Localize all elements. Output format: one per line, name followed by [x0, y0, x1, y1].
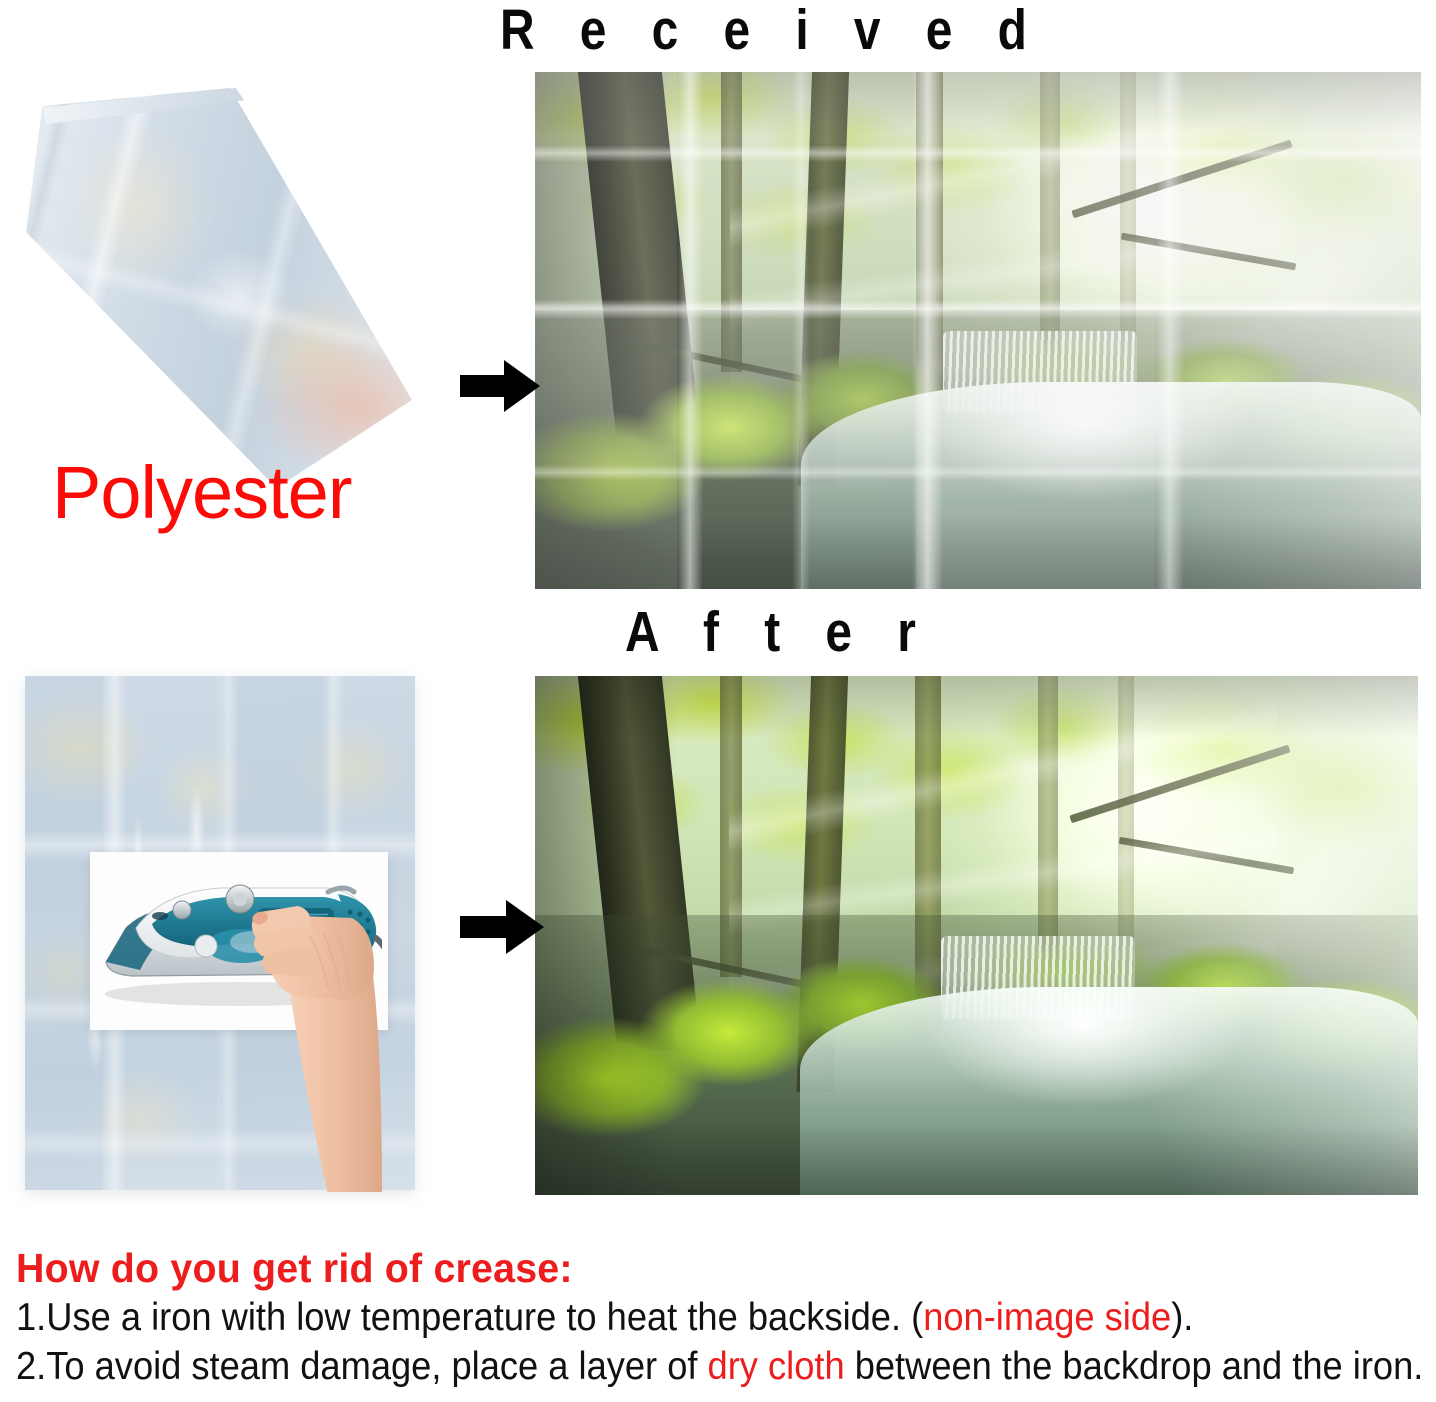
- instruction-line-1: 1.Use a iron with low temperature to hea…: [16, 1295, 1327, 1341]
- folded-fabric-photo: [18, 88, 422, 488]
- steam-iron-icon: [92, 866, 382, 1016]
- instruction-line-1-highlight: non-image side: [923, 1296, 1171, 1339]
- instruction-line-2-post: between the backdrop and the iron.: [845, 1345, 1424, 1388]
- instruction-line-2-highlight: dry cloth: [708, 1345, 845, 1388]
- instructions-block: How do you get rid of crease: 1.Use a ir…: [16, 1244, 1426, 1390]
- photo-received-creased: [535, 72, 1421, 589]
- right-arrow-icon: [460, 898, 544, 956]
- photo-vignette: [535, 676, 1418, 1195]
- instructions-heading: How do you get rid of crease:: [16, 1244, 1370, 1292]
- section-title-after: A f t e r: [625, 604, 932, 661]
- instruction-line-2-pre: 2.To avoid steam damage, place a layer o…: [16, 1345, 708, 1388]
- infographic-canvas: R e c e i v e d Polyester: [0, 0, 1436, 1402]
- material-label-polyester: Polyester: [52, 456, 351, 530]
- instruction-line-2: 2.To avoid steam damage, place a layer o…: [16, 1344, 1327, 1390]
- right-arrow-icon: [460, 358, 540, 414]
- photo-after-ironed: [535, 676, 1418, 1195]
- iron-demo-card: [90, 852, 388, 1030]
- instruction-line-1-post: ).: [1171, 1296, 1193, 1339]
- forest-scene-creased: [535, 72, 1421, 589]
- forest-scene-smooth: [535, 676, 1418, 1195]
- instruction-line-1-pre: 1.Use a iron with low temperature to hea…: [16, 1296, 923, 1339]
- section-title-received: R e c e i v e d: [500, 2, 1043, 59]
- photo-vignette: [535, 72, 1421, 589]
- folded-fabric-crease-lines: [18, 88, 422, 488]
